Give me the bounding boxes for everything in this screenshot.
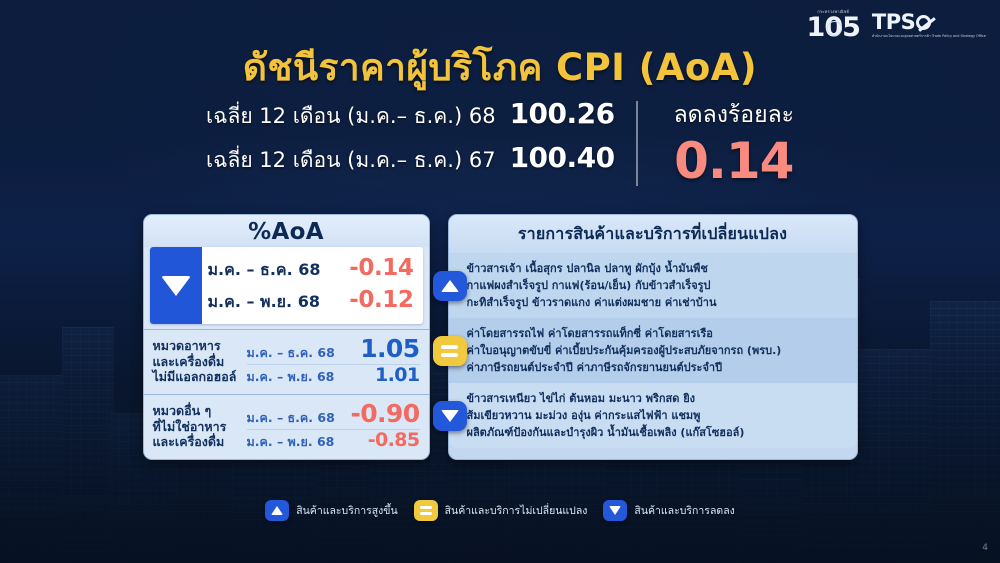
headline-rows: เฉลี่ย 12 เดือน (ม.ค.– ธ.ค.) 68 100.26 เ… [206,97,636,177]
aoa-value: -0.85 [368,431,420,451]
anniversary-105-logo: กระทรวงพาณิชย์ 105 [807,10,860,40]
item-line: ข้าวสารเหนียว ไข่ไก่ ต้นหอม มะนาว พริกสด… [467,390,847,407]
item-line: ค่าใบอนุญาตขับขี่ ค่าเบี้ยประกันคุ้มครอง… [467,342,847,359]
aoa-value: -0.12 [349,287,413,313]
aoa-section-values: ม.ค. – ธ.ค. 68 1.05 ม.ค. – พ.ย. 68 1.01 [247,335,420,388]
legend-item-down: สินค้าและบริการลดลง [603,500,734,521]
aoa-panel-header: %AoA [144,215,429,247]
headline-row-value: 100.26 [510,97,622,130]
tpso-logo: TPS สำนักงานนโยบายและยุทธศาสตร์การค้า Tr… [872,12,986,38]
headline-row: เฉลี่ย 12 เดือน (ม.ค.– ธ.ค.) 67 100.40 [206,141,622,177]
changed-items-title: รายการสินค้าและบริการที่เปลี่ยนแปลง [518,224,787,243]
legend-down-badge [603,500,627,521]
panels-row: %AoA ม.ค. – ธ.ค. 68 -0.14 ม.ค. – พ.ย. 68… [0,214,1000,460]
aoa-overall-direction-badge [150,247,202,324]
changed-items-panel: รายการสินค้าและบริการที่เปลี่ยนแปลง ข้าว… [448,214,858,460]
equals-icon [420,506,432,514]
aoa-value: -0.14 [349,255,413,281]
change-value: 0.14 [674,135,794,188]
page-number: 4 [982,543,988,553]
aoa-overall-rows: ม.ค. – ธ.ค. 68 -0.14 ม.ค. – พ.ย. 68 -0.1… [202,247,423,324]
item-line: ส้มเขียวหวาน มะม่วง องุ่น ค่ากระแสไฟฟ้า … [467,407,847,424]
headline-row: เฉลี่ย 12 เดือน (ม.ค.– ธ.ค.) 68 100.26 [206,97,622,133]
item-line: กาแฟผงสำเร็จรูป กาแฟ(ร้อน/เย็น) กับข้าวส… [467,277,847,294]
headline-change: ลดลงร้อยละ 0.14 [638,97,794,188]
legend-label: สินค้าและบริการไม่เปลี่ยนแปลง [445,502,588,519]
aoa-overall-row: ม.ค. – พ.ย. 68 -0.12 [208,285,414,317]
changed-items-header: รายการสินค้าและบริการที่เปลี่ยนแปลง [449,215,857,253]
aoa-section-values: ม.ค. – ธ.ค. 68 -0.90 ม.ค. – พ.ย. 68 -0.8… [247,400,420,453]
direction-up-badge [433,271,467,301]
legend-up-badge [265,500,289,521]
changed-items-block-down: ข้าวสารเหนียว ไข่ไก่ ต้นหอม มะนาว พริกสด… [449,383,857,448]
headline-row-value: 100.40 [510,141,622,174]
aoa-value: 1.05 [360,336,419,362]
aoa-section-row: ม.ค. – ธ.ค. 68 1.05 [247,335,420,364]
aoa-section-row: ม.ค. – ธ.ค. 68 -0.90 [247,400,420,429]
legend-label: สินค้าและบริการสูงขึ้น [296,502,397,519]
legend: สินค้าและบริการสูงขึ้น สินค้าและบริการไม… [0,500,1000,521]
headline-row-label: เฉลี่ย 12 เดือน (ม.ค.– ธ.ค.) 68 [206,100,496,133]
legend-item-equal: สินค้าและบริการไม่เปลี่ยนแปลง [414,500,588,521]
tpso-mark: TPS [872,12,931,33]
tpso-slash-icon [916,15,931,30]
item-line: ผลิตภัณฑ์ป้องกันและบำรุงผิว น้ำมันเชื้อเ… [467,424,847,441]
aoa-section-name-line: ไม่มีแอลกอฮอล์ [153,369,241,385]
logo-group: กระทรวงพาณิชย์ 105 TPS สำนักงานนโยบายและ… [807,10,986,40]
aoa-period-label: ม.ค. – ธ.ค. 68 [247,408,335,428]
triangle-up-icon [441,280,459,292]
triangle-down-icon [441,410,459,422]
legend-label: สินค้าและบริการลดลง [634,502,734,519]
item-line: กะทิสำเร็จรูป ข้าวราดแกง ค่าแต่งผมชาย ค่… [467,294,847,311]
aoa-period-label: ม.ค. – พ.ย. 68 [247,367,335,387]
aoa-period-label: ม.ค. – พ.ย. 68 [208,290,320,315]
aoa-section-name: หมวดอื่น ๆ ที่ไม่ใช่อาหาร และเครื่องดื่ม [153,403,241,450]
tpso-subtitle: สำนักงานนโยบายและยุทธศาสตร์การค้า Trade … [872,34,986,38]
direction-equal-badge [433,336,467,366]
page-title: ดัชนีราคาผู้บริโภค CPI (AoA) [0,38,1000,97]
aoa-section-name-line: และเครื่องดื่ม [153,354,241,370]
aoa-period-label: ม.ค. – ธ.ค. 68 [247,343,335,363]
triangle-down-icon [161,276,191,296]
aoa-panel-title: %AoA [248,219,324,245]
aoa-section-name-line: หมวดอาหาร [153,338,241,354]
aoa-section-row: ม.ค. – พ.ย. 68 -0.85 [247,429,420,453]
aoa-section-name-line: และเครื่องดื่ม [153,434,241,450]
aoa-section-name-line: หมวดอื่น ๆ [153,403,241,419]
aoa-overall-card: ม.ค. – ธ.ค. 68 -0.14 ม.ค. – พ.ย. 68 -0.1… [150,247,423,324]
slide-canvas: กระทรวงพาณิชย์ 105 TPS สำนักงานนโยบายและ… [0,0,1000,563]
item-line: ข้าวสารเจ้า เนื้อสุกร ปลานิล ปลาทู ผักบุ… [467,260,847,277]
aoa-section-name: หมวดอาหาร และเครื่องดื่ม ไม่มีแอลกอฮอล์ [153,338,241,385]
legend-item-up: สินค้าและบริการสูงขึ้น [265,500,397,521]
item-line: ค่าภาษีรถยนต์ประจำปี ค่าภาษีรถจักรยานยนต… [467,359,847,376]
aoa-section-row: ม.ค. – พ.ย. 68 1.01 [247,364,420,388]
headline-row-label: เฉลี่ย 12 เดือน (ม.ค.– ธ.ค.) 67 [206,144,496,177]
change-caption: ลดลงร้อยละ [674,97,794,133]
triangle-up-icon [271,506,283,515]
aoa-panel: %AoA ม.ค. – ธ.ค. 68 -0.14 ม.ค. – พ.ย. 68… [143,214,430,460]
changed-items-block-up: ข้าวสารเจ้า เนื้อสุกร ปลานิล ปลาทู ผักบุ… [449,253,857,318]
aoa-period-label: ม.ค. – ธ.ค. 68 [208,258,321,283]
aoa-section-nonfood: หมวดอื่น ๆ ที่ไม่ใช่อาหาร และเครื่องดื่ม… [144,394,429,459]
aoa-section-food: หมวดอาหาร และเครื่องดื่ม ไม่มีแอลกอฮอล์ … [144,329,429,394]
item-line: ค่าโดยสารรถไฟ ค่าโดยสารรถแท็กซี่ ค่าโดยส… [467,325,847,342]
direction-down-badge [433,401,467,431]
aoa-value: -0.90 [350,401,419,427]
legend-equal-badge [414,500,438,521]
aoa-value: 1.01 [375,366,419,386]
equals-icon [441,345,458,357]
triangle-down-icon [609,506,621,515]
headline-stats: เฉลี่ย 12 เดือน (ม.ค.– ธ.ค.) 68 100.26 เ… [0,97,1000,188]
anniversary-number: 105 [807,15,860,41]
aoa-period-label: ม.ค. – พ.ย. 68 [247,432,335,452]
changed-items-block-equal: ค่าโดยสารรถไฟ ค่าโดยสารรถแท็กซี่ ค่าโดยส… [449,318,857,383]
aoa-section-name-line: ที่ไม่ใช่อาหาร [153,419,241,435]
aoa-overall-row: ม.ค. – ธ.ค. 68 -0.14 [208,253,414,285]
